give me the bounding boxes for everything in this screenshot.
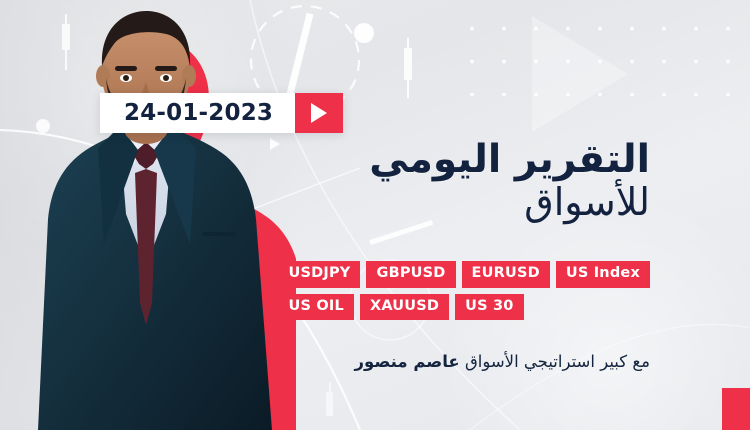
dot-grid-pattern-icon: [450, 6, 750, 111]
presenter-photo: [0, 0, 296, 430]
market-daily-report-banner: 24-01-2023 التقرير اليومي للأسواق USDJPY…: [0, 0, 750, 430]
instrument-badge-us-index[interactable]: US Index: [556, 261, 650, 288]
instrument-badge-group: USDJPY GBPUSD EURUSD US Index US OIL XAU…: [279, 261, 651, 320]
presenter-byline: مع كبير استراتيجي الأسواق عاصم منصور: [355, 352, 650, 371]
instrument-row-1: USDJPY GBPUSD EURUSD US Index: [279, 261, 651, 288]
instrument-row-2: US OIL XAUUSD US 30: [279, 294, 524, 321]
byline-prefix: مع كبير استراتيجي الأسواق: [465, 352, 650, 371]
date-badge[interactable]: 24-01-2023: [100, 93, 343, 133]
soft-triangle-shape-icon: [532, 16, 628, 132]
presenter-illustration: [0, 0, 296, 430]
corner-accent-block: [722, 388, 750, 430]
page-title: التقرير اليومي للأسواق: [369, 140, 650, 221]
title-line-2: للأسواق: [369, 183, 650, 221]
instrument-badge-usdjpy[interactable]: USDJPY: [279, 261, 361, 288]
play-triangle-icon: [311, 103, 327, 123]
play-button[interactable]: [295, 93, 343, 133]
date-text: 24-01-2023: [100, 93, 295, 133]
presenter-name: عاصم منصور: [355, 352, 460, 371]
instrument-badge-xauusd[interactable]: XAUUSD: [360, 294, 449, 321]
title-line-1: التقرير اليومي: [369, 140, 650, 179]
instrument-badge-eurusd[interactable]: EURUSD: [462, 261, 550, 288]
instrument-badge-us-30[interactable]: US 30: [455, 294, 523, 321]
instrument-badge-us-oil[interactable]: US OIL: [279, 294, 354, 321]
instrument-badge-gbpusd[interactable]: GBPUSD: [366, 261, 455, 288]
